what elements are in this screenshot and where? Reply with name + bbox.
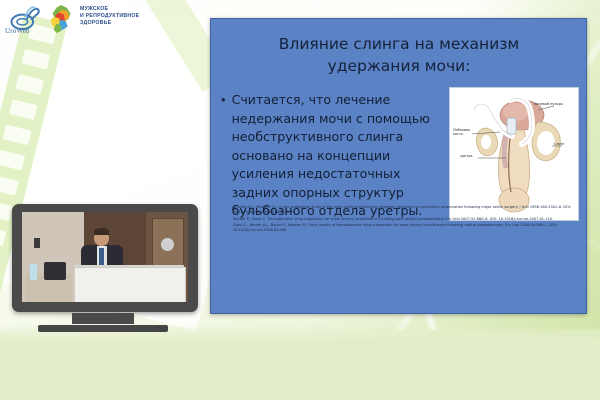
footer-band (0, 342, 600, 400)
bullet-text: Считается, что лечение недержания мочи с… (232, 91, 451, 221)
video-chair (44, 262, 66, 280)
reference-item: Burnett A.L., Mostwin J.L. In situ anato… (233, 205, 575, 215)
presentation-video-monitor[interactable] (12, 204, 198, 312)
health-logo-line1: МУЖСКОЕ (80, 6, 139, 13)
label-urethra: уретра (460, 154, 472, 158)
health-logo-text: МУЖСКОЕ И РЕПРОДУКТИВНОЕ ЗДОРОВЬЕ (80, 6, 139, 28)
reference-item: Gozzi C., Becker A.J., Bauer R., Bastian… (233, 223, 575, 233)
presentation-slide[interactable]: Влияние слинга на механизм удержания моч… (210, 18, 587, 314)
uroweb-logo-text: UroWeb (5, 27, 30, 35)
slide-title-line1: Влияние слинга на механизм (229, 33, 569, 55)
video-door-sign (161, 238, 174, 251)
bullet-marker-icon: • (221, 91, 226, 221)
reference-item: Rehder P., Gozzi C. Transobturator sling… (233, 217, 575, 222)
label-sling: Слинг (554, 142, 565, 146)
health-logo-line2: И РЕПРОДУКТИВНОЕ (80, 13, 139, 20)
monitor-stand-base (38, 325, 168, 332)
list-item: • Считается, что лечение недержания мочи… (221, 91, 451, 221)
health-logo-icon[interactable] (48, 4, 76, 34)
anatomy-diagram[interactable]: мочевой пузырь Слинг Лобковая кость урет… (449, 87, 579, 221)
video-podium (74, 267, 186, 302)
screenshot-root: UroWeb МУЖСКОЕ И РЕПРОДУКТИВНОЕ ЗДОРОВЬЕ (0, 0, 600, 400)
slide-references: Burnett A.L., Mostwin J.L. In situ anato… (233, 205, 575, 235)
video-wall-switch (34, 238, 40, 248)
slide-title-line2: удержания мочи: (229, 55, 569, 77)
label-pubic-bone: Лобковая кость (453, 128, 473, 137)
health-logo-line3: ЗДОРОВЬЕ (80, 20, 139, 27)
label-bladder: мочевой пузырь (534, 102, 563, 106)
video-speaker-hair (94, 228, 109, 235)
monitor-stand-neck (72, 313, 134, 324)
slide-title: Влияние слинга на механизм удержания моч… (229, 33, 569, 77)
header-logos: UroWeb МУЖСКОЕ И РЕПРОДУКТИВНОЕ ЗДОРОВЬЕ (0, 0, 200, 40)
video-water-bottle (30, 264, 37, 280)
slide-bullet-list: • Считается, что лечение недержания мочи… (221, 91, 451, 221)
video-screen[interactable] (22, 212, 188, 302)
